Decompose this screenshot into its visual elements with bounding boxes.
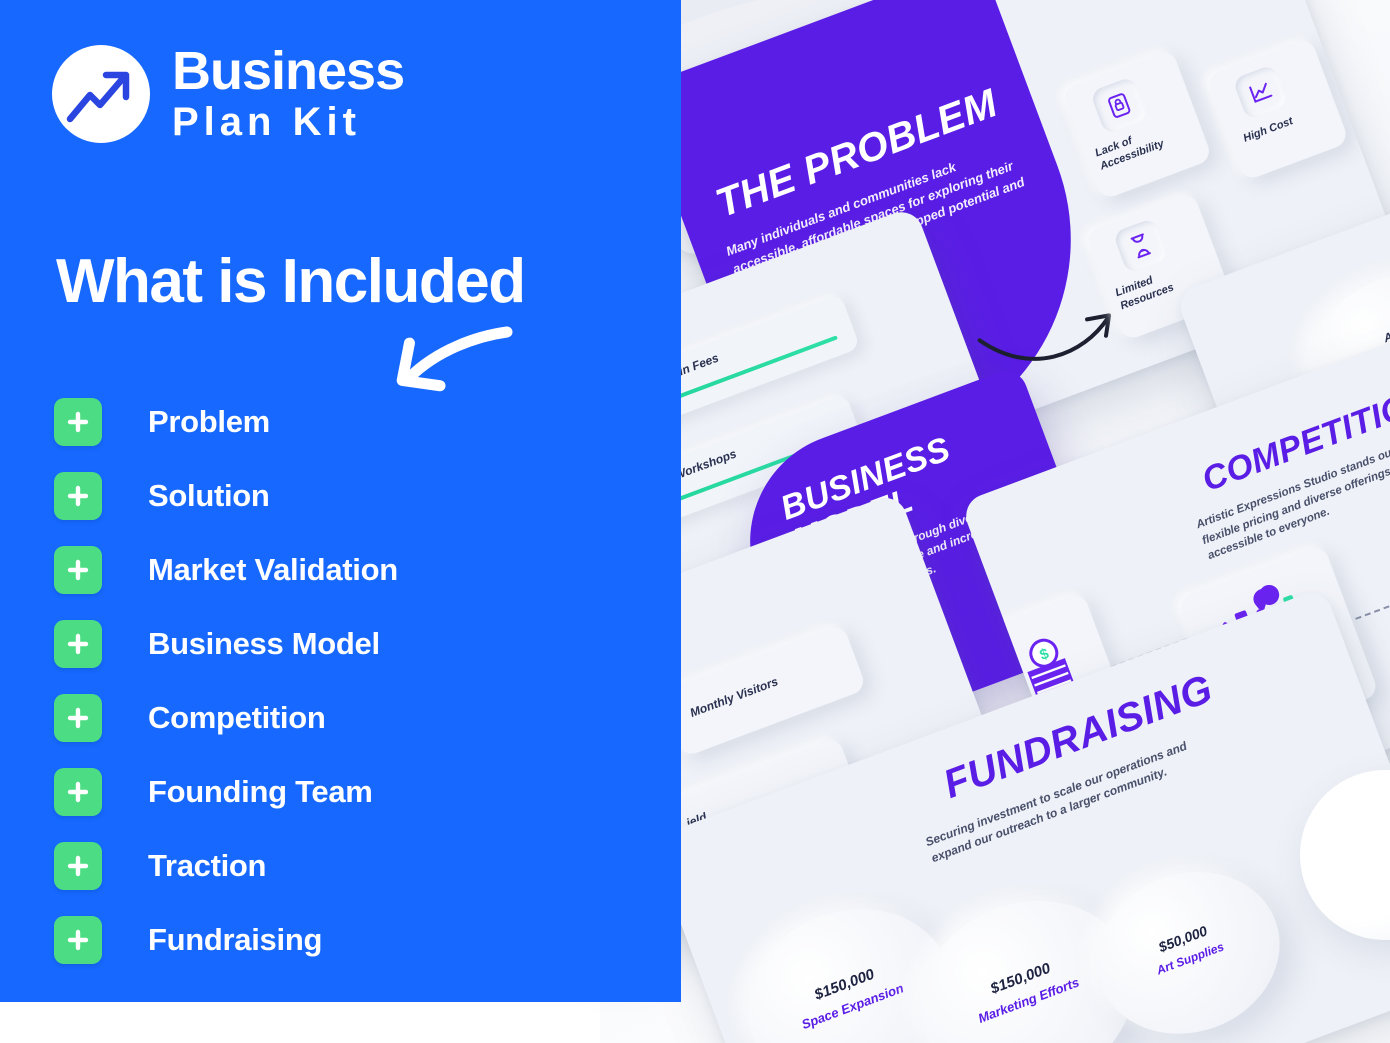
hourglass-icon: [1127, 231, 1154, 260]
included-item-3[interactable]: Business Model: [54, 607, 398, 681]
included-item-label-5: Founding Team: [148, 774, 373, 810]
included-item-label-6: Traction: [148, 848, 266, 884]
included-item-1[interactable]: Solution: [54, 459, 398, 533]
curved-arrow-down-left-icon: [385, 322, 515, 399]
locked-document-icon: [1105, 90, 1134, 120]
locked-document-icon-chip: [1090, 76, 1149, 135]
plus-icon: [54, 768, 102, 816]
included-item-label-7: Fundraising: [148, 922, 322, 958]
brand-logo[interactable]: Business Plan Kit: [52, 44, 404, 144]
plus-icon: [54, 398, 102, 446]
included-item-4[interactable]: Competition: [54, 681, 398, 755]
plus-icon: [54, 694, 102, 742]
problem-card-accessibility[interactable]: Lack of Accessibility: [1061, 49, 1213, 201]
hourglass-icon-chip: [1112, 218, 1169, 275]
brand-wordmark: Business Plan Kit: [172, 44, 404, 144]
traction-card-monthly-visitors-label: Monthly Visitors: [688, 674, 780, 721]
included-item-6[interactable]: Traction: [54, 829, 398, 903]
included-item-7[interactable]: Fundraising: [54, 903, 398, 977]
line-chart-icon-chip: [1232, 64, 1289, 121]
included-item-5[interactable]: Founding Team: [54, 755, 398, 829]
traction-card-monthly-visitors[interactable]: Monthly Visitors: [659, 623, 867, 757]
included-item-label-0: Problem: [148, 404, 270, 440]
plus-icon: [54, 546, 102, 594]
line-chart-icon: [1247, 79, 1275, 105]
included-item-label-2: Market Validation: [148, 552, 398, 588]
left-info-panel: Business Plan Kit What is Included Probl…: [0, 0, 681, 1002]
problem-card-accessibility-label: Lack of Accessibility: [1094, 125, 1167, 174]
competition-connector-1: [1355, 588, 1390, 620]
brand-name-line1: Business: [172, 44, 404, 98]
plus-icon: [54, 916, 102, 964]
plus-icon: [54, 472, 102, 520]
brand-name-line2: Plan Kit: [172, 100, 404, 144]
problem-card-high-cost-label: High Cost: [1242, 115, 1295, 146]
included-item-0[interactable]: Problem: [54, 385, 398, 459]
included-item-2[interactable]: Market Validation: [54, 533, 398, 607]
page-title: What is Included: [56, 246, 525, 317]
included-item-label-3: Business Model: [148, 626, 380, 662]
plus-icon: [54, 842, 102, 890]
included-item-label-4: Competition: [148, 700, 326, 736]
growth-chart-circle-icon: [52, 45, 150, 143]
included-item-label-1: Solution: [148, 478, 270, 514]
plus-icon: [54, 620, 102, 668]
included-items-list: Problem Solution Market Validation Busin…: [54, 385, 398, 977]
